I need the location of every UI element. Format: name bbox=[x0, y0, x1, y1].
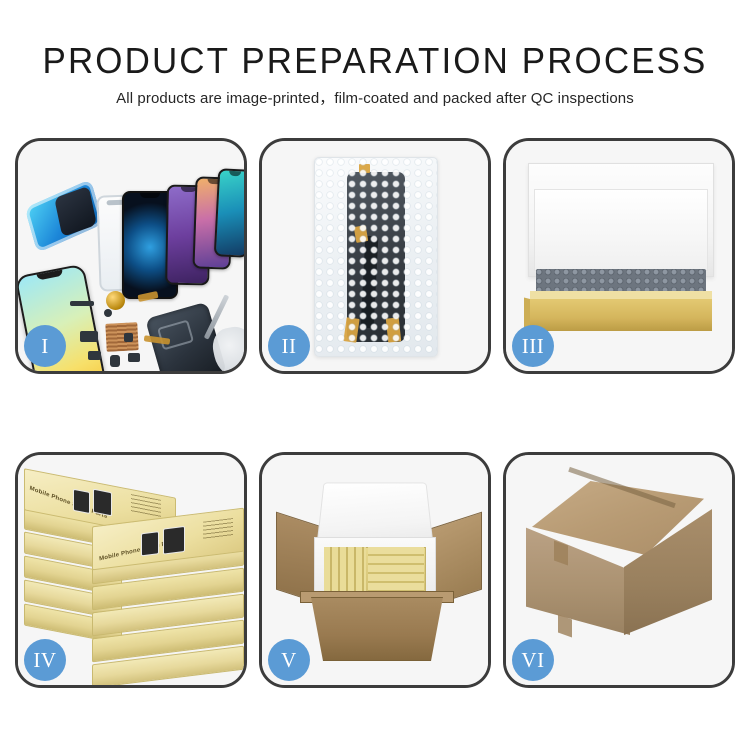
step-badge-5: V bbox=[268, 639, 310, 681]
speaker-component-icon bbox=[106, 291, 125, 310]
process-step-panel-4: Mobile Phone Spare Parts Mobile Phone Sp… bbox=[15, 452, 247, 688]
chip-grid-icon bbox=[105, 322, 138, 352]
small-part-icon bbox=[128, 353, 140, 362]
product-thumbnail-icon bbox=[73, 489, 90, 514]
process-step-panel-3: III bbox=[503, 138, 735, 374]
small-part-icon bbox=[80, 331, 98, 342]
step-badge-1: I bbox=[24, 325, 66, 367]
process-step-panel-5: V bbox=[259, 452, 491, 688]
small-part-icon bbox=[110, 355, 120, 367]
foam-sheet-icon bbox=[534, 189, 708, 271]
step-badge-2: II bbox=[268, 325, 310, 367]
yellow-box-front-icon bbox=[530, 299, 712, 331]
phone-screen-icon bbox=[214, 168, 247, 258]
step-badge-4: IV bbox=[24, 639, 66, 681]
adhesive-film-icon bbox=[25, 179, 104, 253]
bubble-wrap-bag-icon bbox=[314, 157, 438, 357]
page-subtitle: All products are image-printed，film-coat… bbox=[0, 80, 750, 108]
bubble-texture bbox=[315, 158, 437, 356]
step-badge-3: III bbox=[512, 325, 554, 367]
yellow-boxes-inside bbox=[324, 547, 366, 591]
product-thumbnail-icon bbox=[163, 526, 185, 555]
small-part-icon bbox=[70, 301, 94, 306]
small-part-icon bbox=[88, 351, 101, 360]
product-thumbnail-icon bbox=[93, 489, 112, 517]
process-step-panel-6: VI bbox=[503, 452, 735, 688]
step-badge-6: VI bbox=[512, 639, 554, 681]
box-spec-lines bbox=[203, 518, 233, 540]
small-part-icon bbox=[104, 309, 112, 317]
page-title: PRODUCT PREPARATION PROCESS bbox=[11, 0, 739, 80]
tape-strip-icon bbox=[558, 614, 572, 637]
small-part-icon bbox=[124, 333, 133, 342]
header: PRODUCT PREPARATION PROCESS All products… bbox=[0, 0, 750, 128]
box-spec-lines bbox=[131, 494, 161, 518]
process-step-panel-2: II bbox=[259, 138, 491, 374]
process-panel-grid: I II III bbox=[15, 138, 735, 688]
process-step-panel-1: I bbox=[15, 138, 247, 374]
yellow-boxes-inside bbox=[368, 547, 424, 591]
product-thumbnail-icon bbox=[141, 531, 159, 556]
carton-front-icon bbox=[302, 597, 452, 661]
